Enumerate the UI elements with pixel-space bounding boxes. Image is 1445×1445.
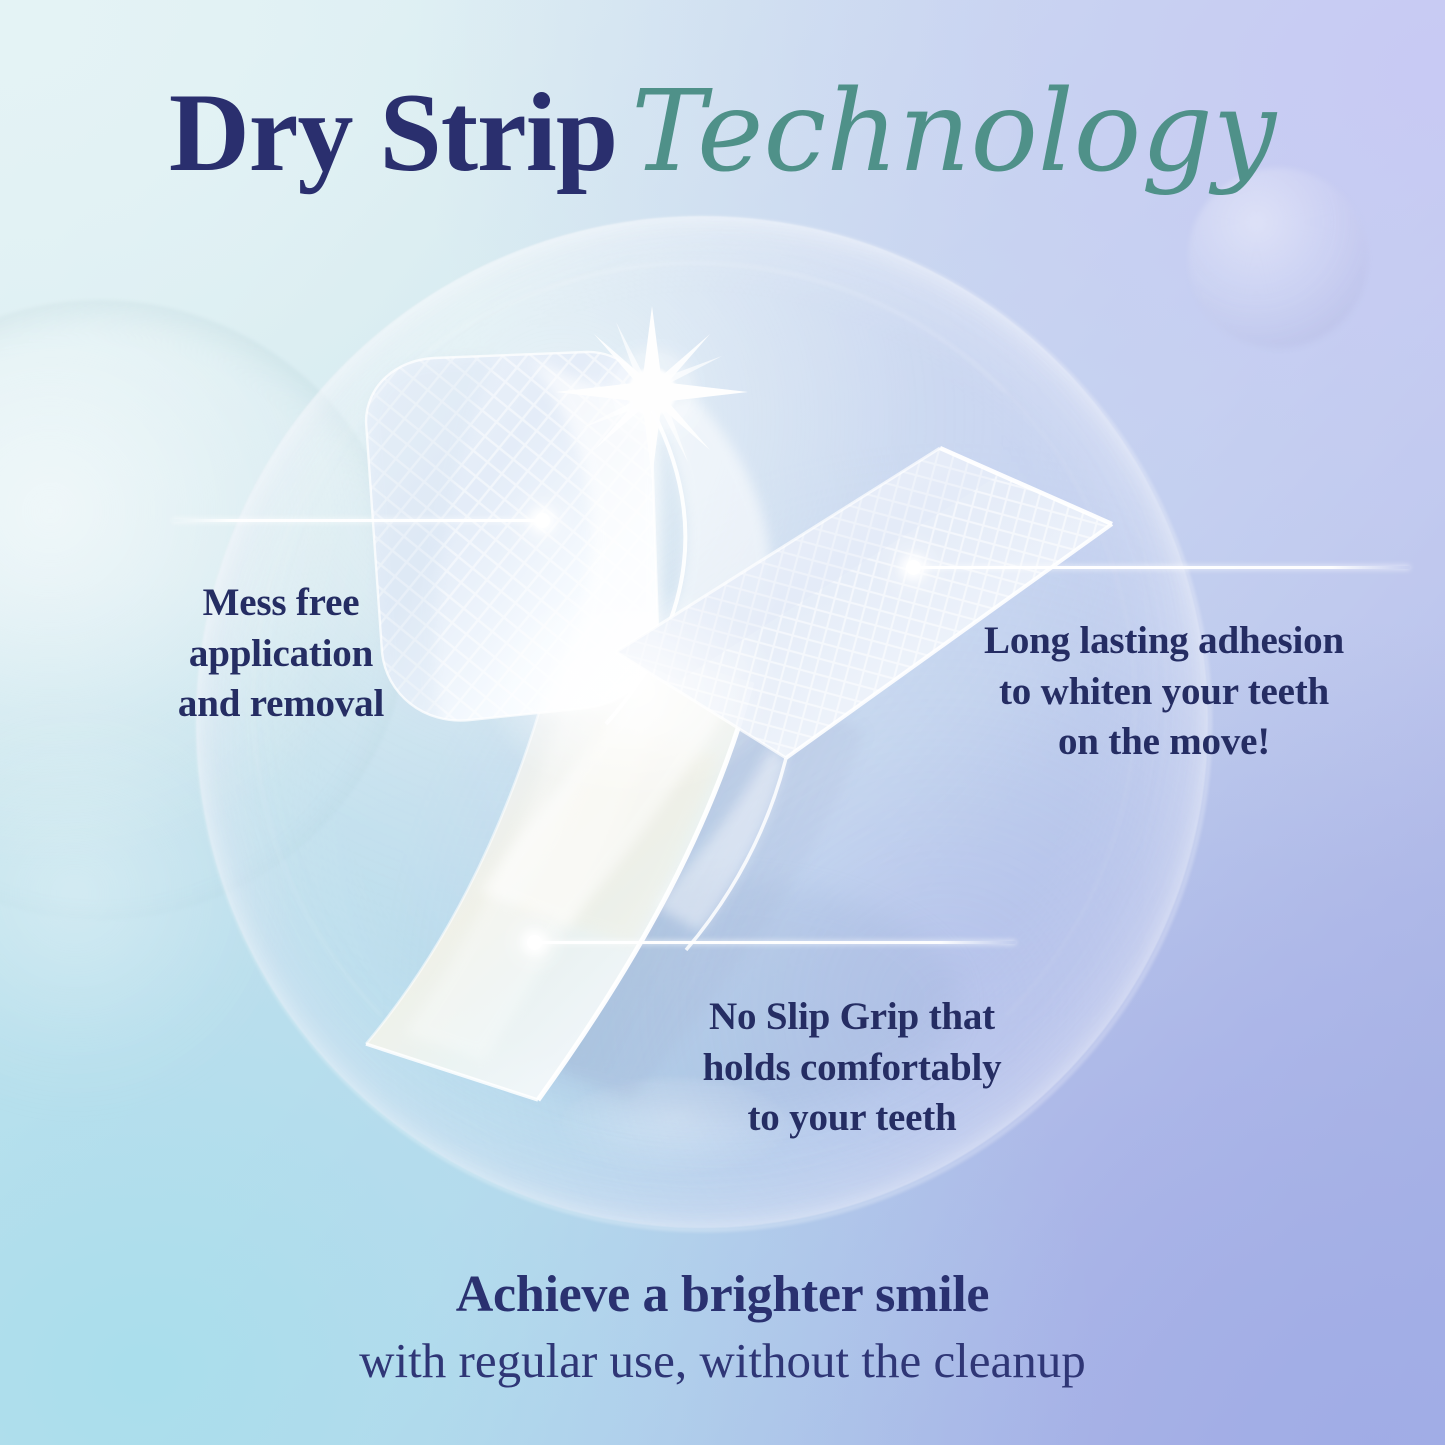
callout-grip-line-2: holds comfortably [612, 1043, 1092, 1094]
strip-fold-curve [480, 396, 771, 928]
callout-line-mess-free [172, 519, 538, 522]
strip-tail [656, 748, 786, 932]
callout-mess-free-line-3: and removal [96, 679, 466, 730]
infographic-canvas: Dry StripTechnology [0, 0, 1445, 1445]
tagline-secondary: with regular use, without the cleanup [0, 1332, 1445, 1390]
callout-mess-free-line-2: application [96, 629, 466, 680]
callout-text-long-lasting-adhesion: Long lasting adhesion to whiten your tee… [914, 616, 1414, 768]
strip-right-panel [523, 300, 1160, 922]
callout-adhesion-line-3: on the move! [914, 717, 1414, 768]
tagline-primary: Achieve a brighter smile [0, 1266, 1445, 1324]
callout-mess-free-line-1: Mess free [96, 578, 466, 629]
center-glow [480, 582, 780, 798]
callout-text-mess-free: Mess free application and removal [96, 578, 466, 730]
sparkle-icon [556, 306, 748, 478]
callout-adhesion-line-2: to whiten your teeth [914, 667, 1414, 718]
callout-grip-line-1: No Slip Grip that [612, 992, 1092, 1043]
page-title-bold: Dry Strip [169, 71, 617, 195]
callout-dot-long-lasting-adhesion [906, 560, 921, 575]
bottom-tagline: Achieve a brighter smile with regular us… [0, 1266, 1445, 1390]
callout-line-long-lasting-adhesion [918, 566, 1410, 569]
callout-line-no-slip-grip [540, 941, 1016, 944]
callout-text-no-slip-grip: No Slip Grip that holds comfortably to y… [612, 992, 1092, 1144]
background-orb-bottom-left [0, 700, 290, 1130]
callout-adhesion-line-1: Long lasting adhesion [914, 616, 1414, 667]
callout-dot-no-slip-grip [527, 935, 542, 950]
page-title-italic: Technology [631, 67, 1276, 197]
callout-grip-line-3: to your teeth [612, 1093, 1092, 1144]
callout-dot-mess-free [535, 513, 550, 528]
page-title: Dry StripTechnology [0, 76, 1445, 189]
